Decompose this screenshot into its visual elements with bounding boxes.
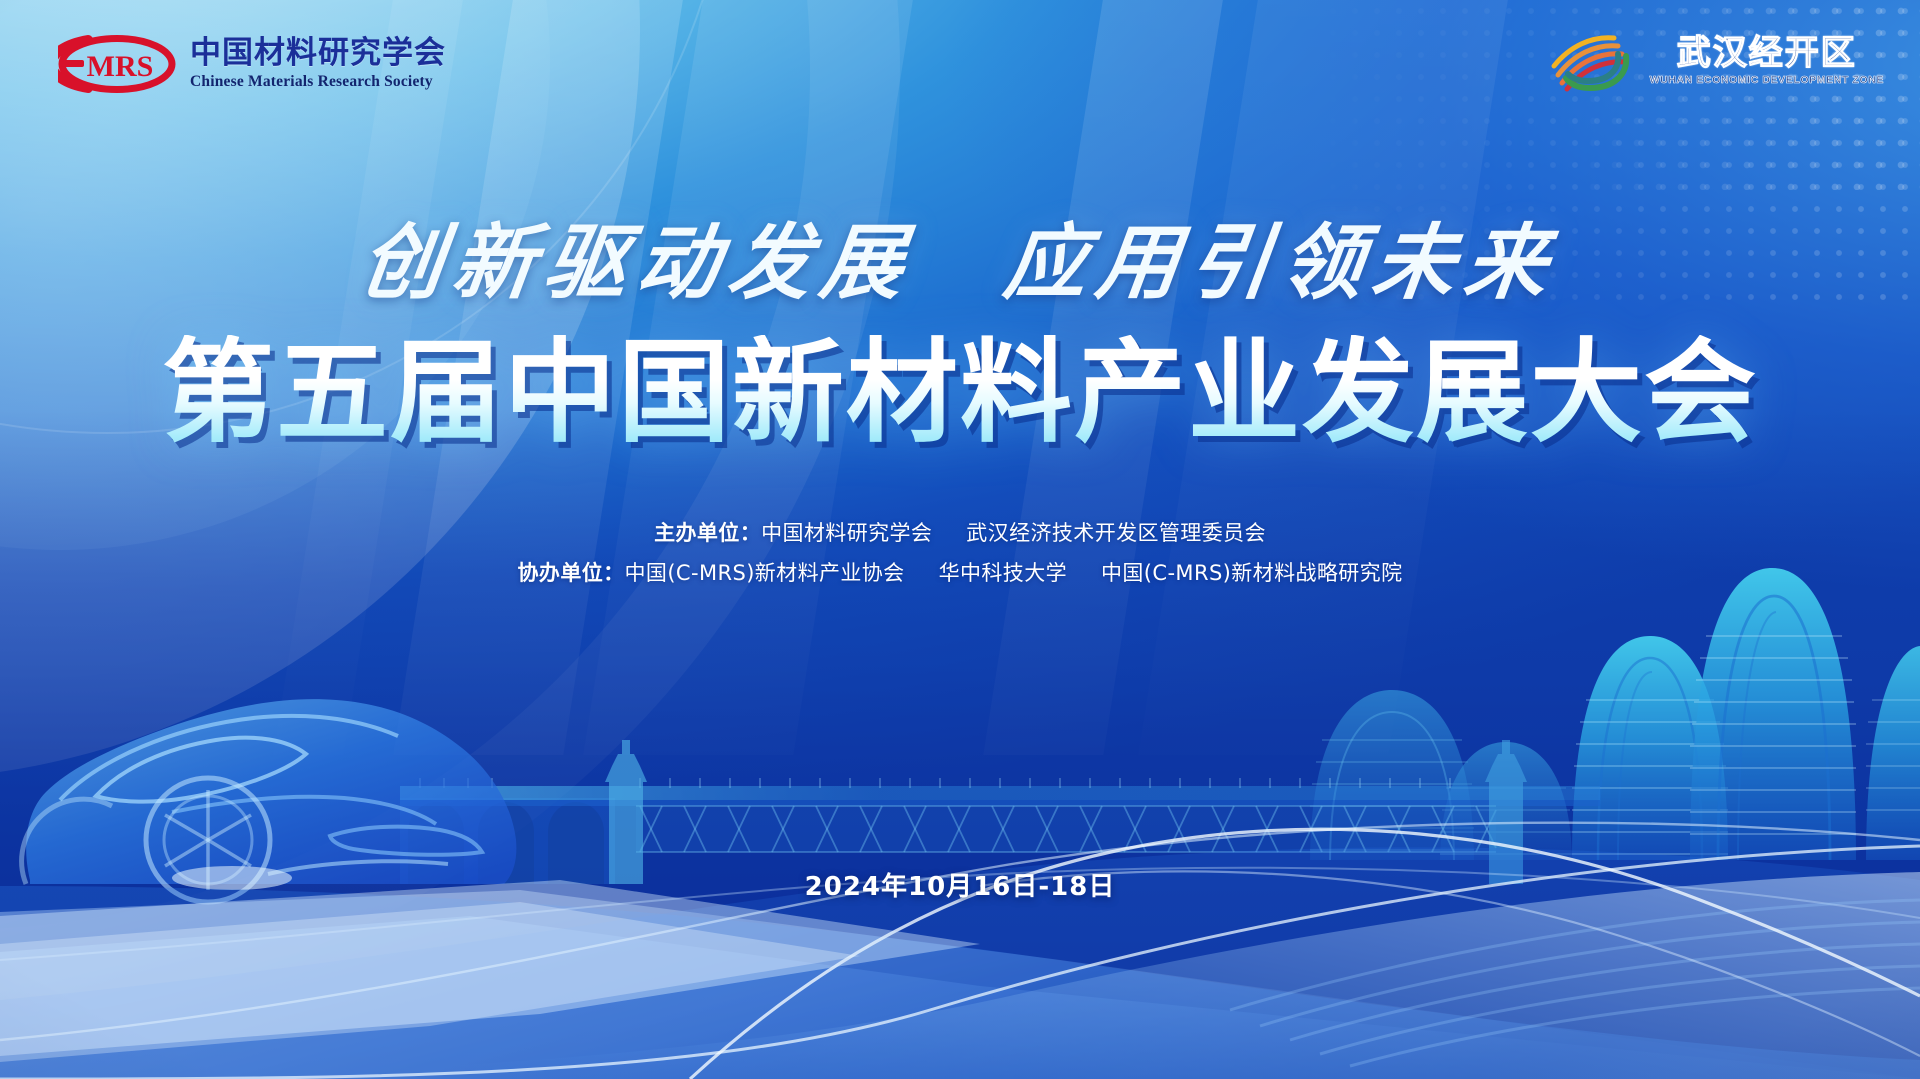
coorganizer-line: 协办单位：中国(C-MRS)新材料产业协会华中科技大学中国(C-MRS)新材料战… [0, 553, 1920, 593]
coorganizer-3: 中国(C-MRS)新材料战略研究院 [1101, 561, 1402, 585]
event-date: 2024年10月16日-18日 [0, 866, 1920, 903]
wedz-name-cn: 武汉经开区 [1677, 36, 1857, 72]
host-label: 主办单位： [654, 521, 761, 545]
svg-text:MRS: MRS [87, 50, 154, 83]
logo-chinese-materials-research-society: MRS 中国材料研究学会 Chinese Materials Research … [58, 34, 446, 94]
cmrs-logo-icon: MRS [58, 34, 176, 94]
coorganizer-2: 华中科技大学 [939, 561, 1067, 585]
banner-headline: 第五届中国新材料产业发展大会 [0, 335, 1920, 453]
host-2: 武汉经济技术开发区管理委员会 [966, 521, 1266, 545]
cmrs-name-en: Chinese Materials Research Society [190, 74, 446, 90]
banner-canvas: MRS 中国材料研究学会 Chinese Materials Research … [0, 0, 1920, 1079]
coorganizer-label: 协办单位： [518, 561, 625, 585]
banner-slogan: 创新驱动发展 应用引领未来 [0, 196, 1920, 315]
host-line: 主办单位：中国材料研究学会武汉经济技术开发区管理委员会 [0, 513, 1920, 553]
wedz-name-en: WUHAN ECONOMIC DEVELOPMENT ZONE [1650, 74, 1884, 86]
coorganizer-1: 中国(C-MRS)新材料产业协会 [625, 561, 905, 585]
host-1: 中国材料研究学会 [761, 521, 932, 545]
wedz-swoosh-icon [1548, 30, 1634, 92]
logo-wuhan-economic-development-zone: 武汉经开区 WUHAN ECONOMIC DEVELOPMENT ZONE [1548, 30, 1884, 92]
cmrs-name-cn: 中国材料研究学会 [190, 38, 446, 69]
organizers-block: 主办单位：中国材料研究学会武汉经济技术开发区管理委员会 协办单位：中国(C-MR… [0, 513, 1920, 593]
banner-headline-text: 第五届中国新材料产业发展大会 [162, 335, 1758, 453]
